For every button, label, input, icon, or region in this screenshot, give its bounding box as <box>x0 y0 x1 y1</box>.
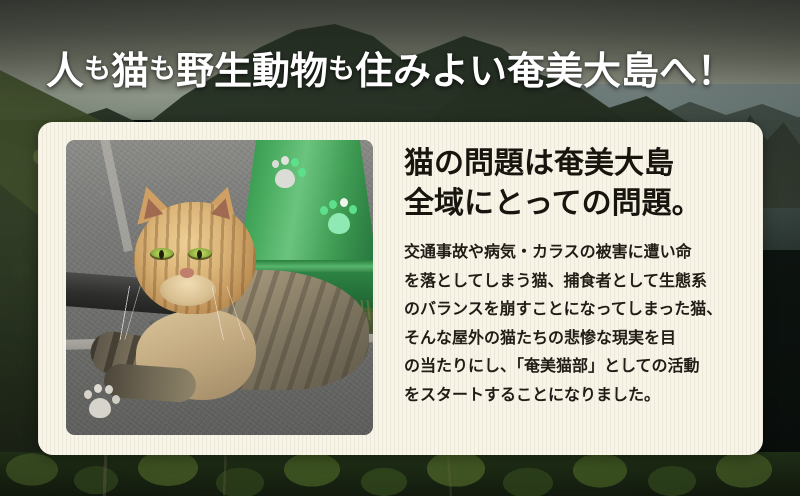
card-body-text: 交通事故や病気・カラスの被害に遭い命 を落としてしまう猫、捕食者として生態系 の… <box>404 238 742 409</box>
card-heading: 猫の問題は奄美大島 全域にとっての問題。 <box>404 144 742 224</box>
headline-banner: 人 も 猫 も 野生動物 も 住みよい奄美大島へ！ <box>46 42 766 92</box>
headline-segment-7: 住みよい奄美大島へ！ <box>355 50 735 92</box>
paw-print-white-lower-icon <box>84 384 120 418</box>
card-text-column: 猫の問題は奄美大島 全域にとっての問題。 交通事故や病気・カラスの被害に遭い命 … <box>404 144 742 409</box>
cat-nose <box>180 268 194 278</box>
cat-pupil-right <box>197 250 202 259</box>
cat-pupil-left <box>159 250 164 259</box>
headline-segment-6: も <box>328 49 355 91</box>
headline-segment-4: も <box>149 49 176 91</box>
page-root: 人 も 猫 も 野生動物 も 住みよい奄美大島へ！ <box>0 0 800 496</box>
paw-print-green-icon <box>320 198 358 234</box>
headline-segment-5: 野生動物 <box>176 50 328 92</box>
cat-whiskers <box>110 286 260 340</box>
paw-print-white-upper-icon <box>272 156 306 190</box>
content-card: 猫の問題は奄美大島 全域にとっての問題。 交通事故や病気・カラスの被害に遭い命 … <box>38 122 763 455</box>
headline-segment-1: 人 <box>46 50 84 92</box>
headline-segment-3: 猫 <box>111 50 149 92</box>
headline-segment-2: も <box>84 49 111 91</box>
